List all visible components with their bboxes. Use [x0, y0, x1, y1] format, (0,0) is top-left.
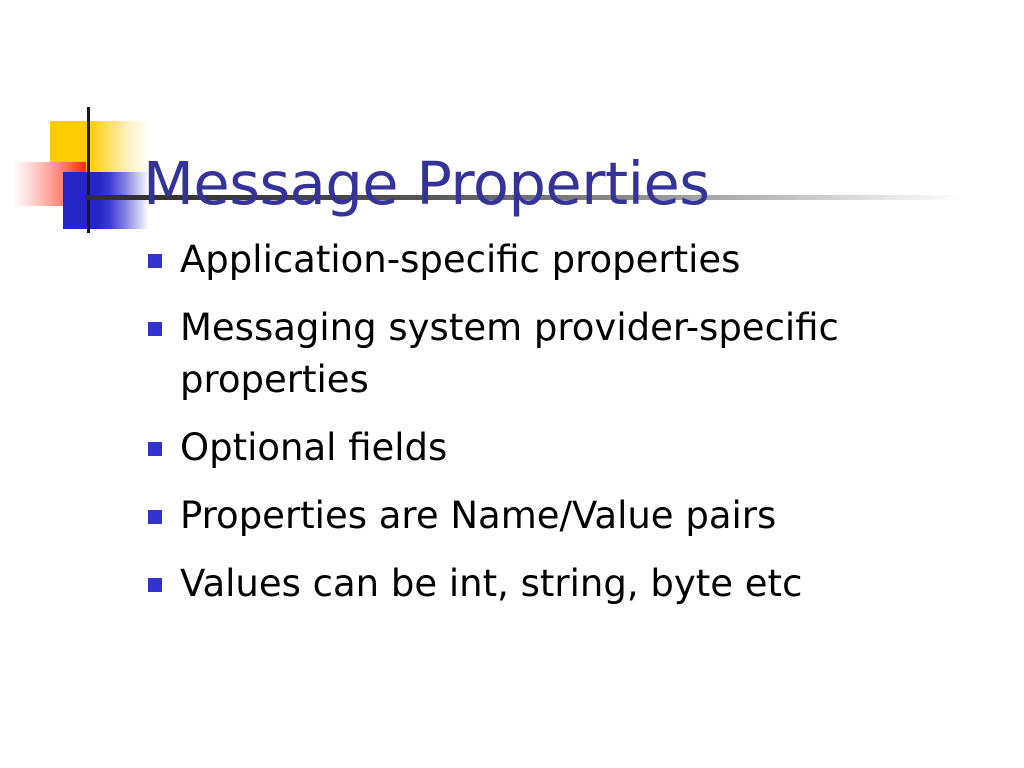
- blue-square-decoration: [63, 172, 149, 229]
- list-item: Optional fields: [145, 422, 935, 474]
- bullet-square-icon: [148, 322, 162, 336]
- list-item: Messaging system provider-specific prope…: [145, 302, 935, 406]
- list-item: Application-specific properties: [145, 234, 935, 286]
- list-item-label: Messaging system provider-specific prope…: [180, 302, 900, 406]
- bullet-square-icon: [148, 510, 162, 524]
- bullet-square-icon: [148, 442, 162, 456]
- list-item: Properties are Name/Value pairs: [145, 490, 935, 542]
- yellow-square-decoration: [50, 121, 150, 172]
- list-item-label: Properties are Name/Value pairs: [180, 490, 935, 542]
- list-item-label: Values can be int, string, byte etc: [180, 558, 935, 610]
- list-item: Values can be int, string, byte etc: [145, 558, 935, 610]
- red-square-decoration: [13, 162, 86, 206]
- bullet-square-icon: [148, 254, 162, 268]
- page-title: Message Properties: [143, 153, 710, 215]
- decorative-logo-cluster: [0, 0, 300, 260]
- list-item-label: Optional fields: [180, 422, 935, 474]
- bullet-list: Application-specific properties Messagin…: [145, 234, 935, 626]
- slide-canvas: Message Properties Application-specific …: [0, 0, 1024, 768]
- list-item-label: Application-specific properties: [180, 234, 935, 286]
- bullet-square-icon: [148, 578, 162, 592]
- vertical-rule-decoration: [87, 107, 90, 233]
